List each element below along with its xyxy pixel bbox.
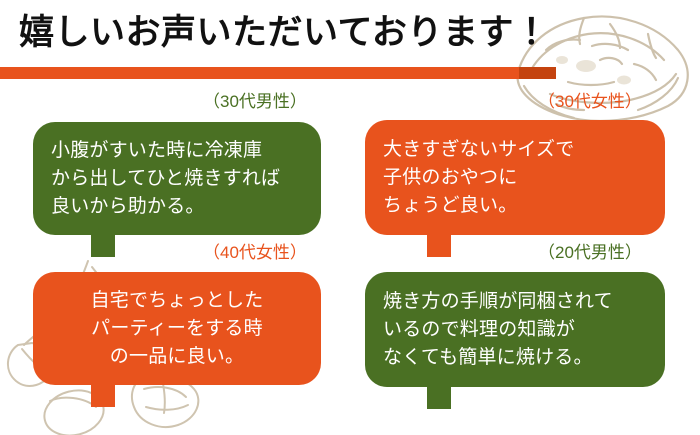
bubble-tail-bottom-left: [91, 383, 115, 407]
speaker-tag-top-right: （30代女性）: [538, 92, 642, 112]
bubble-tail-top-right: [427, 233, 451, 257]
speaker-tag-top-left: （30代男性）: [203, 92, 307, 112]
title-underline-rule: [0, 67, 556, 79]
bubble-tail-bottom-right: [427, 385, 451, 409]
speaker-tag-bottom-left: （40代女性）: [203, 243, 307, 263]
speaker-tag-bottom-right: （20代男性）: [538, 243, 642, 263]
bubble-tail-top-left: [91, 233, 115, 257]
testimonial-text-bottom-right: 焼き方の手順が同梱されて いるので料理の知識が なくても簡単に焼ける。: [365, 288, 665, 372]
testimonial-bubble-top-right: 大きすぎないサイズで 子供のおやつに ちょうど良い。: [365, 120, 665, 235]
testimonial-bubble-top-left: 小腹がすいた時に冷凍庫 から出してひと焼きすれば 良いから助かる。: [33, 122, 321, 235]
testimonial-bubble-bottom-left: 自宅でちょっとした パーティーをする時 の一品に良い。: [33, 272, 321, 385]
testimonial-banner: 嬉しいお声いただいております！ （30代男性） （30代女性） （40代女性） …: [0, 0, 700, 435]
title-underline-accent: [519, 67, 556, 79]
testimonial-text-top-right: 大きすぎないサイズで 子供のおやつに ちょうど良い。: [365, 136, 665, 220]
page-title: 嬉しいお声いただいております！: [19, 9, 549, 57]
testimonial-text-top-left: 小腹がすいた時に冷凍庫 から出してひと焼きすれば 良いから助かる。: [33, 137, 321, 221]
testimonial-bubble-bottom-right: 焼き方の手順が同梱されて いるので料理の知識が なくても簡単に焼ける。: [365, 272, 665, 387]
testimonial-text-bottom-left: 自宅でちょっとした パーティーをする時 の一品に良い。: [33, 287, 321, 371]
